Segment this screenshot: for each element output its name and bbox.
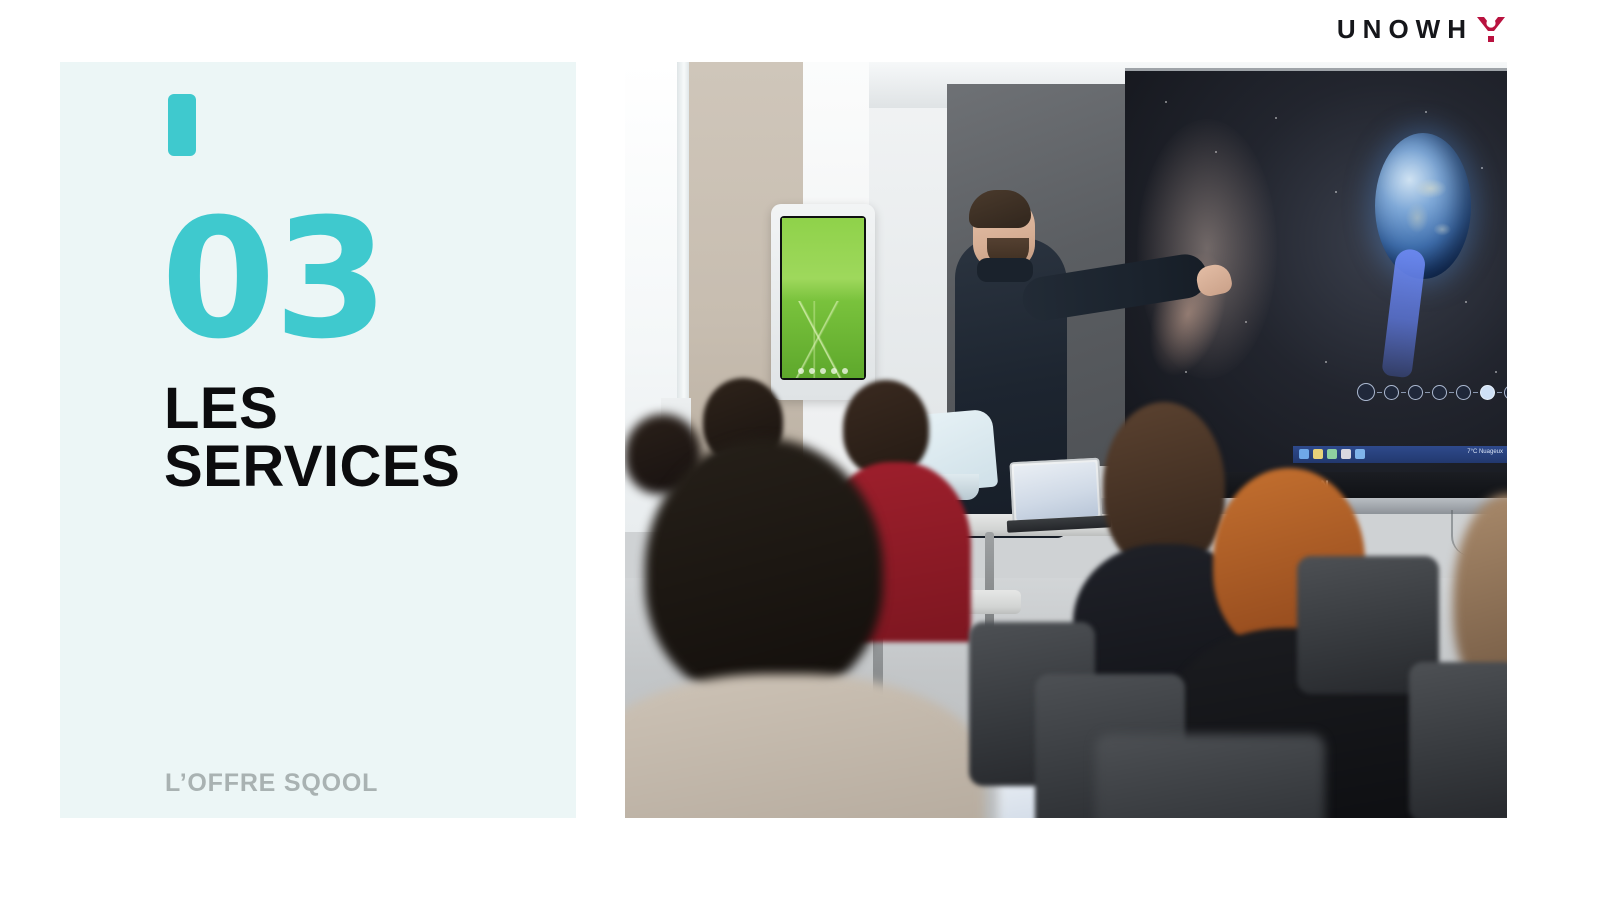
page-title: LES SERVICES xyxy=(164,380,576,496)
weather-widget: 7°C Nuageux xyxy=(1467,449,1503,455)
teacher-hair xyxy=(969,190,1031,228)
tablet-dock xyxy=(786,366,860,376)
timeline-node xyxy=(1456,385,1471,400)
classroom-photo: 7°C Nuageux ODIN xyxy=(625,62,1507,818)
unowhy-logo: UNOWH xyxy=(1337,14,1508,44)
slide-root: UNOWH 03 LES SERVICES L’OFFRE SQOOL xyxy=(0,0,1600,900)
tablet-kiosk xyxy=(771,204,875,400)
chair xyxy=(1095,734,1325,818)
chair xyxy=(1409,662,1507,818)
laptop-screen xyxy=(1014,462,1099,520)
screen-timeline xyxy=(1357,383,1507,401)
section-number: 03 xyxy=(161,197,387,362)
section-footer-label: L’OFFRE SQOOL xyxy=(165,771,378,796)
teacher-collar xyxy=(977,258,1033,282)
tablet-kiosk-screen xyxy=(780,216,866,380)
timeline-node xyxy=(1384,385,1399,400)
student-hair xyxy=(645,438,883,700)
logo-y-icon xyxy=(1474,14,1508,44)
timeline-node xyxy=(1357,383,1375,401)
timeline-node xyxy=(1504,385,1507,400)
logo-wordmark: UNOWH xyxy=(1337,16,1473,42)
left-content-panel: 03 LES SERVICES L’OFFRE SQOOL xyxy=(60,62,576,818)
accent-bar xyxy=(168,94,196,156)
screen-taskbar: 7°C Nuageux xyxy=(1293,446,1507,463)
laptop-lid xyxy=(1009,458,1102,525)
timeline-node xyxy=(1408,385,1423,400)
leaf-wallpaper xyxy=(782,218,864,378)
timeline-node-active xyxy=(1480,385,1495,400)
timeline-node xyxy=(1432,385,1447,400)
